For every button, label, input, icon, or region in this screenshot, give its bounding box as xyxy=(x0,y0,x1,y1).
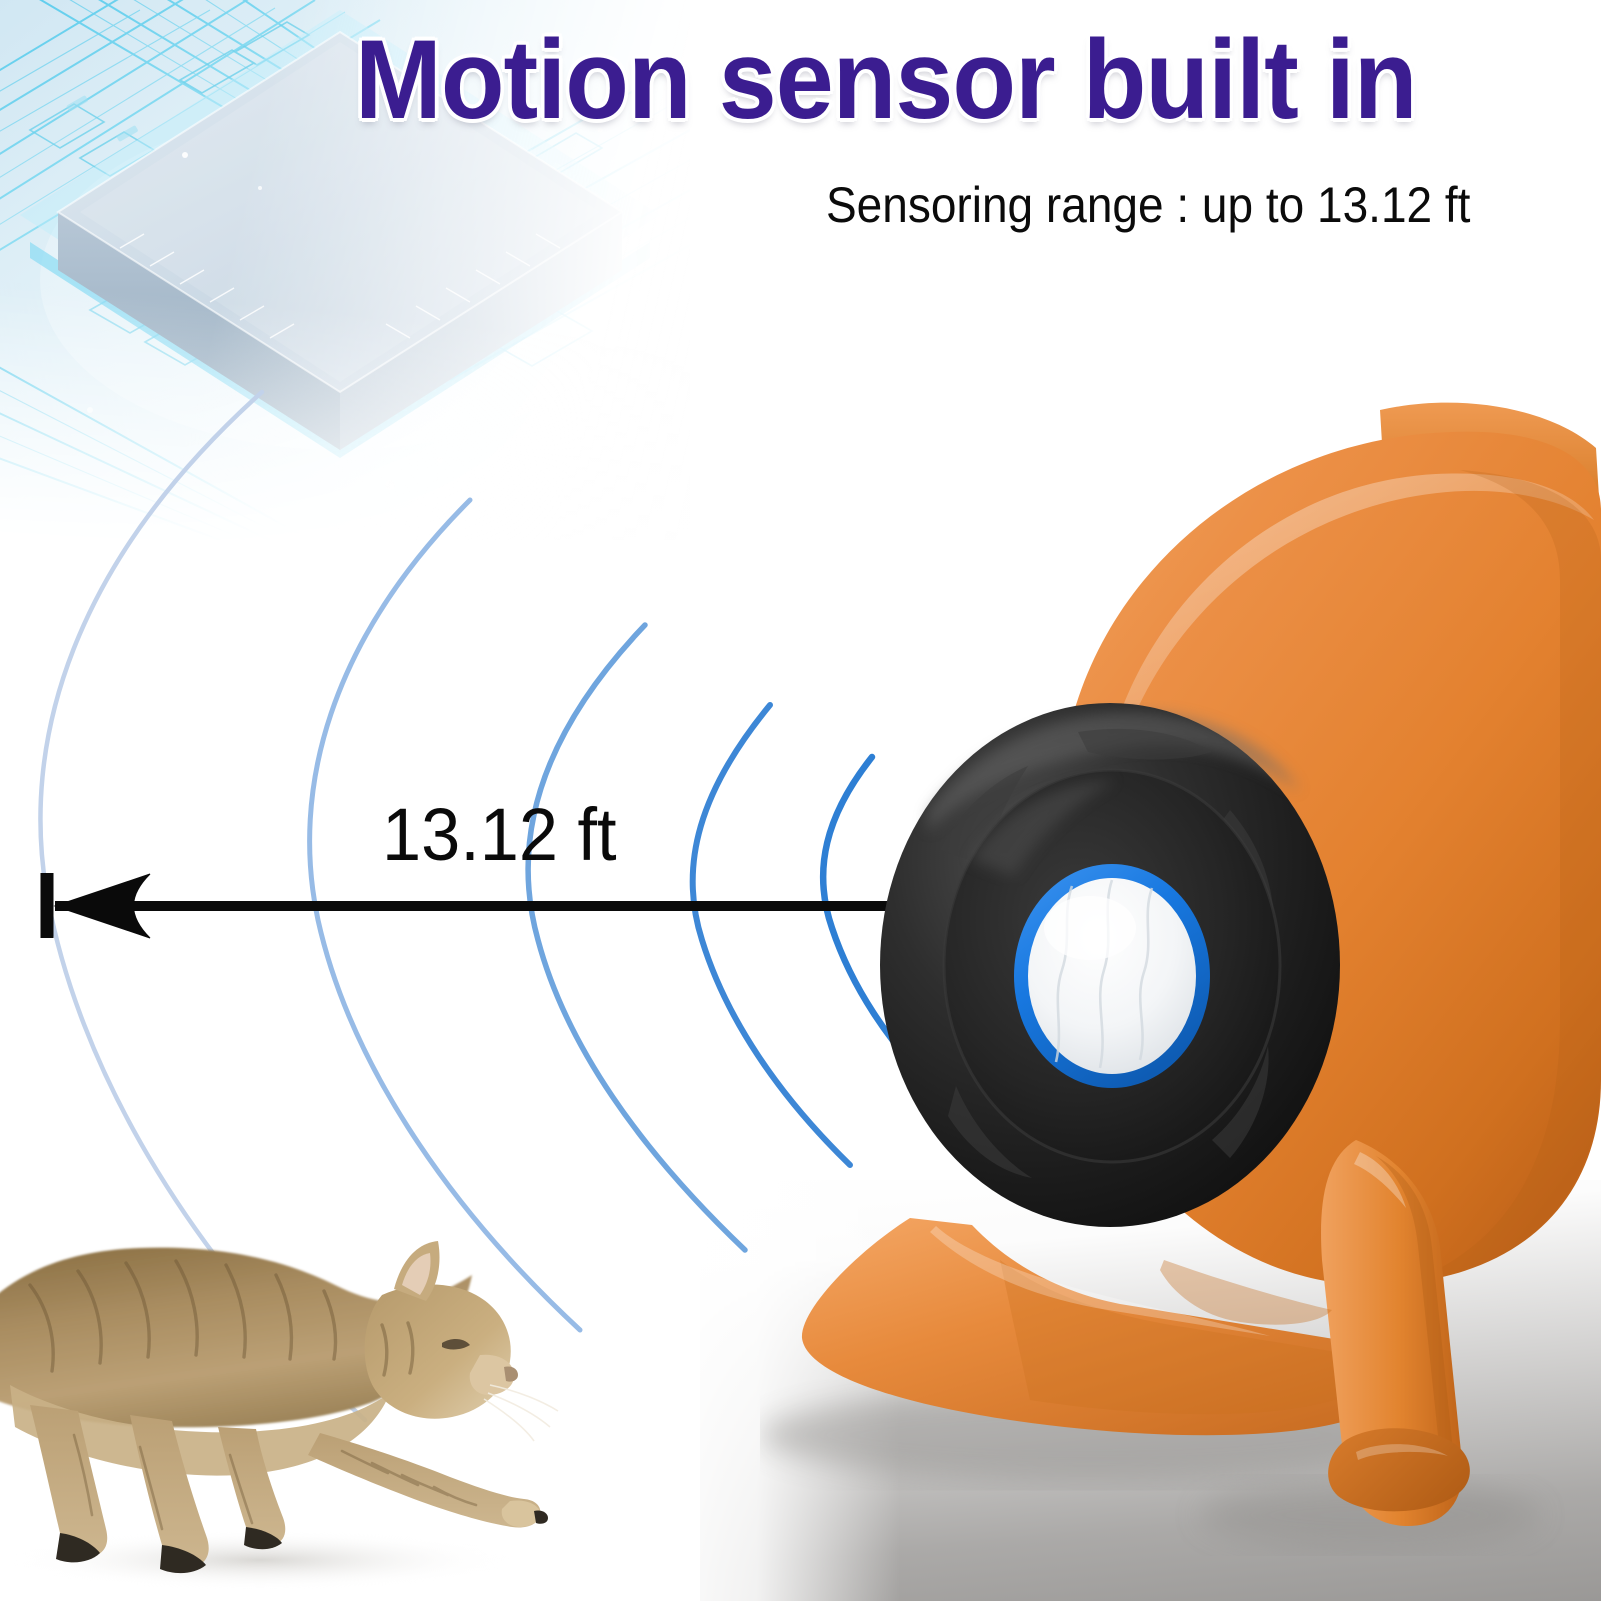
orange-motion-sensor-device[interactable] xyxy=(760,380,1601,1560)
subtitle: Sensoring range : up to 13.12 ft xyxy=(826,176,1470,234)
device-rear-foot xyxy=(1328,1428,1470,1511)
page-title: Motion sensor built in xyxy=(355,24,1514,136)
distance-label: 13.12 ft xyxy=(382,792,617,877)
feature-banner: Motion sensor built in Sensoring range :… xyxy=(0,0,1601,1601)
